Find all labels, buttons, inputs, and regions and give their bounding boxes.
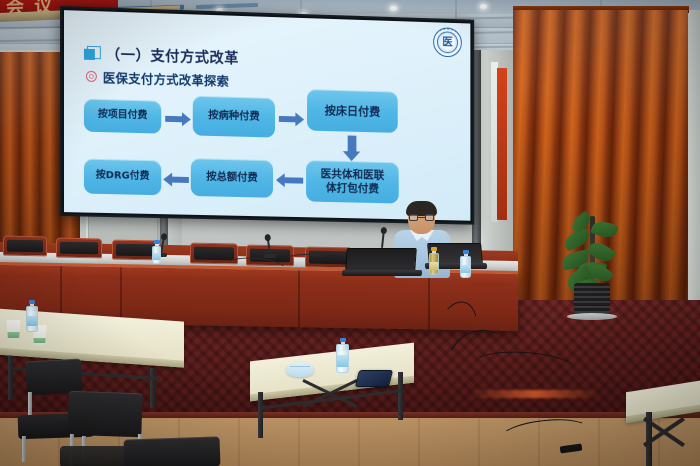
payment-reform-flowchart: 按项目付费 按病种付费 按床日付费 医共体和医联 体打包付费: [82, 87, 464, 215]
presenter-laptop: [344, 248, 420, 276]
flow-box-3: 按床日付费: [307, 89, 398, 133]
wall-red-trim: [497, 68, 507, 220]
laptop-base: [342, 270, 422, 276]
microphone-base-2: [264, 254, 276, 258]
square-bullet-icon: [84, 46, 99, 61]
chair-front-3: [124, 438, 220, 466]
water-bottle-podium: [460, 250, 471, 278]
tablet-device: [355, 370, 393, 387]
face-mask: [286, 362, 314, 377]
podium-chair-2: [56, 238, 102, 259]
slide-title-row: （一）支付方式改革: [84, 43, 239, 69]
tea-bottle-podium: [429, 247, 439, 275]
slide-subtitle: 医保支付方式改革探索: [103, 67, 229, 90]
presenter-glasses: [409, 214, 434, 221]
flow-arrow-5-4: [163, 174, 189, 185]
flow-arrow-3-6: [345, 135, 359, 161]
potted-plant: [556, 200, 626, 320]
logo-mark: 医: [442, 36, 452, 47]
table-leg: [398, 372, 403, 420]
arrow-shaft: [285, 177, 303, 183]
arrow-head: [343, 151, 360, 161]
laptop-screen: [345, 248, 417, 271]
arrow-head: [182, 112, 191, 126]
institution-seal-logo: 医: [433, 27, 462, 57]
arrow-shaft: [279, 116, 296, 122]
plant-pot-tray: [567, 313, 617, 320]
flow-arrow-6-5: [276, 175, 303, 186]
arrow-shaft: [172, 177, 189, 183]
water-bottle-left-podium: [152, 240, 161, 264]
flow-box-1: 按项目付费: [84, 99, 161, 134]
flow-box-6: 医共体和医联 体打包付费: [306, 160, 399, 203]
arrow-head: [163, 172, 172, 186]
table-leg: [8, 356, 13, 400]
plant-pot: [574, 283, 610, 316]
flow-box-4: 按DRG付费: [84, 159, 161, 196]
flow-arrow-1-2: [165, 114, 191, 125]
projection-screen: 医 （一）支付方式改革 医保支付方式改革探索 按项目付费 按病种付费: [60, 6, 474, 225]
circle-bullet-icon: [86, 71, 97, 82]
table-leg: [258, 392, 263, 438]
flow-box-2: 按病种付费: [193, 96, 275, 138]
arrow-head: [276, 173, 285, 187]
presentation-slide: 医 （一）支付方式改革 医保支付方式改革探索 按项目付费 按病种付费: [64, 10, 470, 221]
water-bottle-left-table: [26, 300, 38, 333]
flow-arrow-2-3: [279, 114, 304, 125]
arrow-shaft: [347, 135, 356, 151]
water-bottle-front-table: [336, 338, 349, 374]
desk-cable-loop: [284, 254, 328, 266]
arrow-shaft: [165, 116, 182, 122]
flow-box-5: 按总额付费: [191, 158, 273, 198]
arrow-head: [295, 112, 304, 126]
slide-title: （一）支付方式改革: [106, 43, 239, 68]
podium-chair-1: [3, 236, 47, 257]
conference-room-photo: 会 议 医 （一）支付方式改革 医保支付方式改革探索: [0, 0, 700, 466]
